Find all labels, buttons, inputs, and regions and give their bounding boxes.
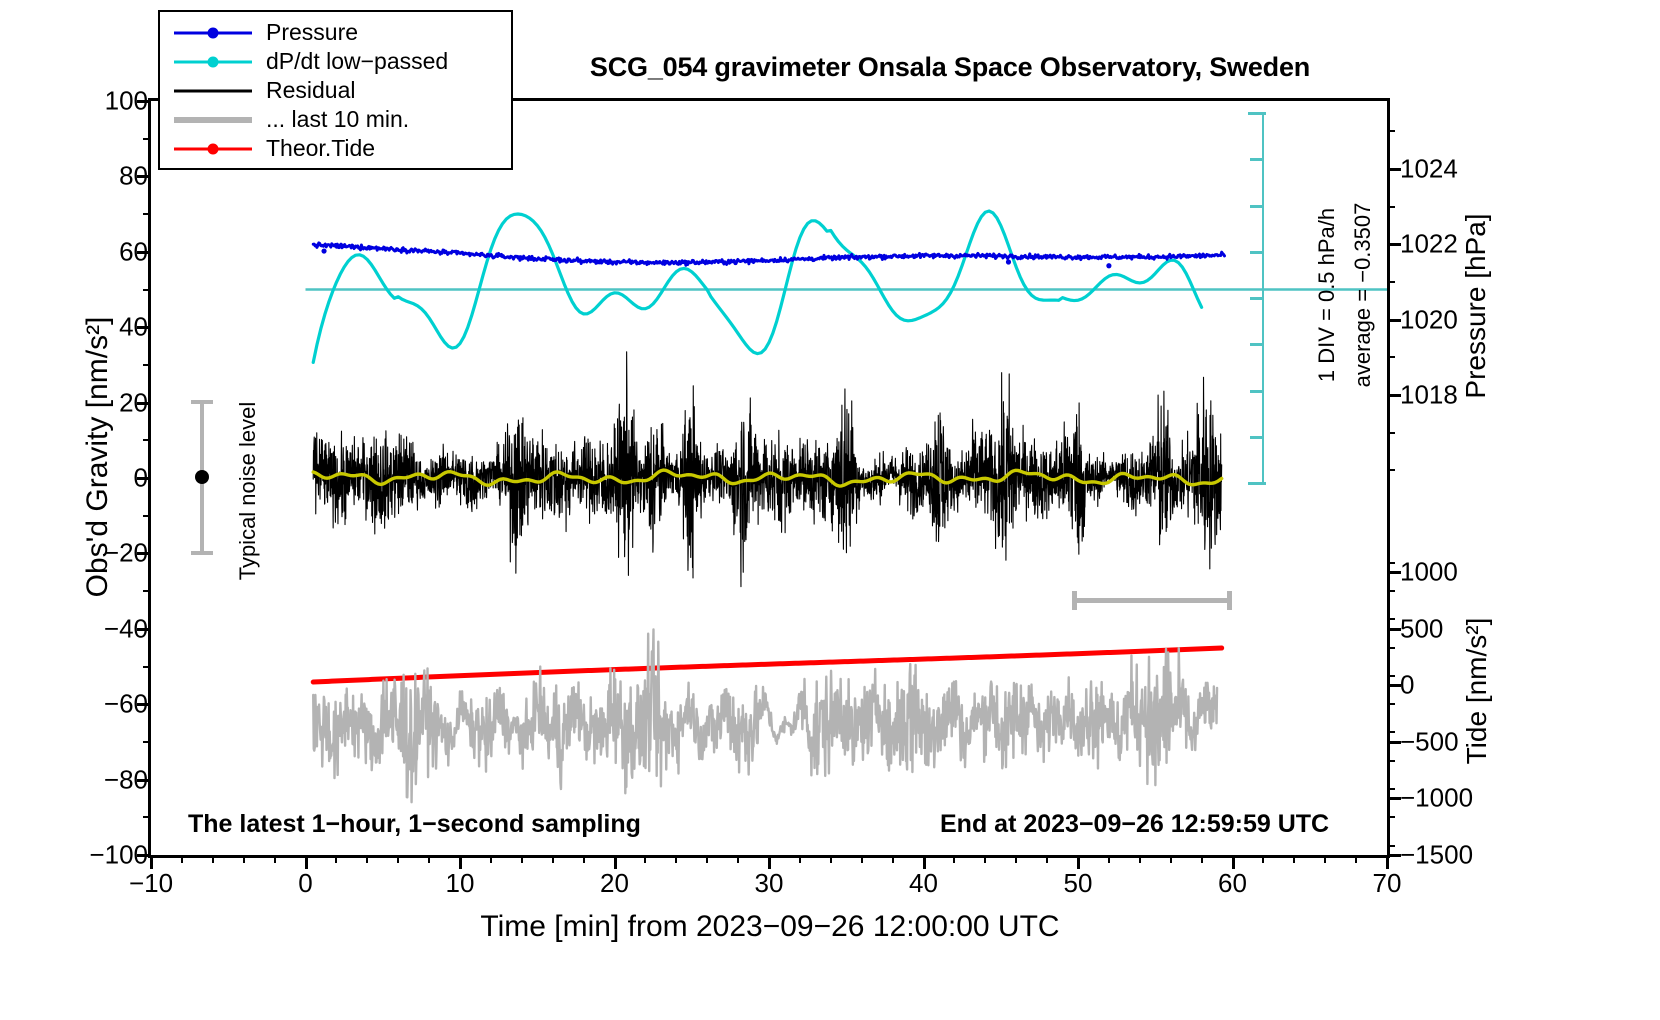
div-scale-tick bbox=[1248, 482, 1266, 485]
x-tick-minor bbox=[1293, 855, 1295, 863]
y-tick-right-tide-minor bbox=[1387, 647, 1395, 649]
x-tick-minor bbox=[1170, 855, 1172, 863]
y-tick-label-tide: −500 bbox=[1400, 726, 1520, 757]
legend-dot-icon bbox=[208, 56, 219, 67]
legend-item-residual[interactable]: Residual bbox=[174, 76, 511, 105]
y-tick-label-tide: −1000 bbox=[1400, 783, 1520, 814]
legend-line bbox=[174, 117, 252, 123]
x-tick-minor bbox=[243, 855, 245, 863]
div-scale-tick bbox=[1250, 251, 1264, 254]
legend-item-pressure[interactable]: Pressure bbox=[174, 18, 511, 47]
dpdt-average-label: average = −0.3507 bbox=[1350, 190, 1376, 400]
y-tick-right-tide-minor bbox=[1387, 845, 1395, 847]
y-tick-right-pressure-minor bbox=[1387, 281, 1395, 283]
y-tick-right-tide-minor bbox=[1387, 618, 1395, 620]
dpdt-low-passed-curve bbox=[313, 211, 1201, 362]
y-tick-right-pressure-minor bbox=[1387, 356, 1395, 358]
legend-item-label: dP/dt low−passed bbox=[266, 48, 448, 75]
y-tick-label-tide: 500 bbox=[1400, 613, 1520, 644]
x-tick-minor bbox=[1262, 855, 1264, 863]
y-tick-left-minor bbox=[143, 515, 151, 517]
y-tick-left-minor bbox=[143, 213, 151, 215]
x-axis-label: Time [min] from 2023−09−26 12:00:00 UTC bbox=[270, 910, 1270, 944]
legend-item-label: ... last 10 min. bbox=[266, 106, 409, 133]
y-tick-right-tide bbox=[1387, 797, 1401, 800]
x-tick-minor bbox=[1201, 855, 1203, 863]
y-tick-right-pressure bbox=[1387, 319, 1401, 322]
y-tick-label-left: 20 bbox=[38, 387, 148, 418]
y-tick-right-pressure-minor bbox=[1387, 469, 1395, 471]
legend-swatch-icon bbox=[174, 23, 252, 43]
y-tick-right-pressure bbox=[1387, 243, 1401, 246]
noise-bar-cap-bottom bbox=[191, 551, 213, 555]
x-tick-minor bbox=[490, 855, 492, 863]
y-tick-label-left: 60 bbox=[38, 236, 148, 267]
y-tick-label-left: −40 bbox=[38, 613, 148, 644]
y-tick-label-pressure: 1024 bbox=[1400, 153, 1520, 184]
legend: PressuredP/dt low−passedResidual... last… bbox=[158, 10, 513, 170]
y-tick-right-tide-minor bbox=[1387, 788, 1395, 790]
div-scale-label: 1 DIV = 0.5 hPa/h bbox=[1314, 190, 1340, 400]
y-tick-label-pressure: 1022 bbox=[1400, 229, 1520, 260]
annotation-end-time: End at 2023−09−26 12:59:59 UTC bbox=[940, 810, 1329, 839]
y-tick-label-tide: −1500 bbox=[1400, 840, 1520, 871]
x-tick-minor bbox=[428, 855, 430, 863]
y-tick-right-tide bbox=[1387, 628, 1401, 631]
pressure-curve bbox=[313, 243, 1224, 265]
y-tick-right-tide-minor bbox=[1387, 562, 1395, 564]
y-tick-right-tide-minor bbox=[1387, 703, 1395, 705]
y-tick-right-tide bbox=[1387, 571, 1401, 574]
y-tick-label-left: 40 bbox=[38, 312, 148, 343]
x-tick bbox=[150, 855, 153, 869]
y-tick-right-tide bbox=[1387, 741, 1401, 744]
page-title: SCG_054 gravimeter Onsala Space Observat… bbox=[470, 52, 1430, 83]
x-tick-label: 0 bbox=[266, 868, 346, 899]
y-tick-left-minor bbox=[143, 741, 151, 743]
y-tick-label-pressure: 1018 bbox=[1400, 380, 1520, 411]
y-tick-label-tide: 1000 bbox=[1400, 557, 1520, 588]
y-tick-right-tide bbox=[1387, 854, 1401, 857]
x-tick-minor bbox=[737, 855, 739, 863]
y-tick-right-pressure bbox=[1387, 168, 1401, 171]
x-tick bbox=[305, 855, 308, 869]
y-tick-right-pressure bbox=[1387, 394, 1401, 397]
div-scale-tick bbox=[1248, 112, 1266, 115]
y-tick-right-tide-minor bbox=[1387, 675, 1395, 677]
legend-swatch-icon bbox=[174, 110, 252, 130]
y-tick-right-pressure-minor bbox=[1387, 130, 1395, 132]
legend-item-dp-dt-low-passed[interactable]: dP/dt low−passed bbox=[174, 47, 511, 76]
y-tick-label-pressure: 1020 bbox=[1400, 304, 1520, 335]
x-tick-minor bbox=[397, 855, 399, 863]
y-tick-label-tide: 0 bbox=[1400, 670, 1520, 701]
x-tick bbox=[923, 855, 926, 869]
x-tick-label: 20 bbox=[575, 868, 655, 899]
pressure-outlier-dot bbox=[321, 248, 326, 253]
x-tick-minor bbox=[830, 855, 832, 863]
x-tick-minor bbox=[1015, 855, 1017, 863]
x-tick-label: 70 bbox=[1347, 868, 1427, 899]
x-tick-minor bbox=[892, 855, 894, 863]
x-tick-minor bbox=[706, 855, 708, 863]
residual-curve bbox=[313, 352, 1221, 587]
legend-dot-icon bbox=[208, 27, 219, 38]
x-tick-label: 60 bbox=[1193, 868, 1273, 899]
x-tick bbox=[768, 855, 771, 869]
pressure-outlier-dot bbox=[1006, 259, 1011, 264]
y-tick-label-left: 80 bbox=[38, 161, 148, 192]
y-tick-label-left: −100 bbox=[38, 840, 148, 871]
x-tick-minor bbox=[212, 855, 214, 863]
y-tick-label-left: −60 bbox=[38, 689, 148, 720]
div-scale-tick bbox=[1250, 158, 1264, 161]
x-tick-minor bbox=[675, 855, 677, 863]
div-scale-tick bbox=[1250, 297, 1264, 300]
x-tick-minor bbox=[1046, 855, 1048, 863]
noise-level-label: Typical noise level bbox=[235, 391, 261, 591]
x-tick bbox=[614, 855, 617, 869]
annotation-latest-sampling: The latest 1−hour, 1−second sampling bbox=[188, 810, 641, 839]
y-tick-right-tide-minor bbox=[1387, 590, 1395, 592]
x-tick-minor bbox=[181, 855, 183, 863]
y-tick-right-tide bbox=[1387, 684, 1401, 687]
last-10-min-range-bar bbox=[1072, 598, 1232, 603]
x-tick-minor bbox=[799, 855, 801, 863]
pressure-outlier-dot bbox=[1106, 263, 1111, 268]
theoretical-tide-curve bbox=[313, 648, 1221, 682]
dpdt-scale-bar bbox=[1262, 113, 1264, 483]
x-tick-minor bbox=[1108, 855, 1110, 863]
legend-item-label: Residual bbox=[266, 77, 356, 104]
x-tick-minor bbox=[552, 855, 554, 863]
x-tick-minor bbox=[953, 855, 955, 863]
legend-item-label: Theor.Tide bbox=[266, 135, 375, 162]
x-tick bbox=[1232, 855, 1235, 869]
div-scale-tick bbox=[1250, 205, 1264, 208]
y-tick-label-left: 100 bbox=[38, 86, 148, 117]
x-tick-label: 50 bbox=[1038, 868, 1118, 899]
legend-swatch-icon bbox=[174, 52, 252, 72]
x-tick-minor bbox=[1324, 855, 1326, 863]
plot-area bbox=[148, 98, 1390, 858]
legend-swatch-icon bbox=[174, 139, 252, 159]
legend-item-theor-tide[interactable]: Theor.Tide bbox=[174, 134, 511, 163]
x-tick bbox=[1386, 855, 1389, 869]
x-tick-minor bbox=[335, 855, 337, 863]
plot-canvas bbox=[151, 101, 1387, 855]
x-tick bbox=[459, 855, 462, 869]
x-tick-minor bbox=[521, 855, 523, 863]
legend-dot-icon bbox=[208, 143, 219, 154]
y-tick-left-minor bbox=[143, 439, 151, 441]
div-scale-tick bbox=[1250, 390, 1264, 393]
legend-item-last-10-min[interactable]: ... last 10 min. bbox=[174, 105, 511, 134]
y-tick-label-left: 0 bbox=[38, 463, 148, 494]
x-tick-minor bbox=[274, 855, 276, 863]
x-tick-minor bbox=[984, 855, 986, 863]
y-tick-left-minor bbox=[143, 364, 151, 366]
y-tick-left-minor bbox=[143, 289, 151, 291]
x-tick-minor bbox=[583, 855, 585, 863]
div-scale-tick bbox=[1250, 436, 1264, 439]
y-tick-left-minor bbox=[143, 666, 151, 668]
y-tick-left-minor bbox=[143, 590, 151, 592]
x-tick-minor bbox=[861, 855, 863, 863]
y-tick-right-pressure-minor bbox=[1387, 206, 1395, 208]
x-tick-minor bbox=[1355, 855, 1357, 863]
y-tick-right-pressure-minor bbox=[1387, 432, 1395, 434]
x-tick bbox=[1077, 855, 1080, 869]
y-tick-left-minor bbox=[143, 138, 151, 140]
y-tick-right-tide-minor bbox=[1387, 731, 1395, 733]
y-tick-right-tide-minor bbox=[1387, 816, 1395, 818]
x-tick-label: −10 bbox=[111, 868, 191, 899]
x-tick-label: 40 bbox=[884, 868, 964, 899]
x-tick-minor bbox=[1139, 855, 1141, 863]
typical-noise-level-marker: Typical noise level bbox=[186, 400, 306, 580]
y-tick-right-tide-minor bbox=[1387, 760, 1395, 762]
x-tick-minor bbox=[366, 855, 368, 863]
legend-swatch-icon bbox=[174, 81, 252, 101]
y-tick-label-left: −20 bbox=[38, 538, 148, 569]
y-tick-left-minor bbox=[143, 816, 151, 818]
legend-line bbox=[174, 89, 252, 92]
noise-center-dot bbox=[195, 470, 209, 484]
y-tick-label-left: −80 bbox=[38, 764, 148, 795]
div-scale-tick bbox=[1250, 343, 1264, 346]
legend-item-label: Pressure bbox=[266, 19, 358, 46]
x-tick-minor bbox=[644, 855, 646, 863]
x-tick-label: 30 bbox=[729, 868, 809, 899]
x-tick-label: 10 bbox=[420, 868, 500, 899]
